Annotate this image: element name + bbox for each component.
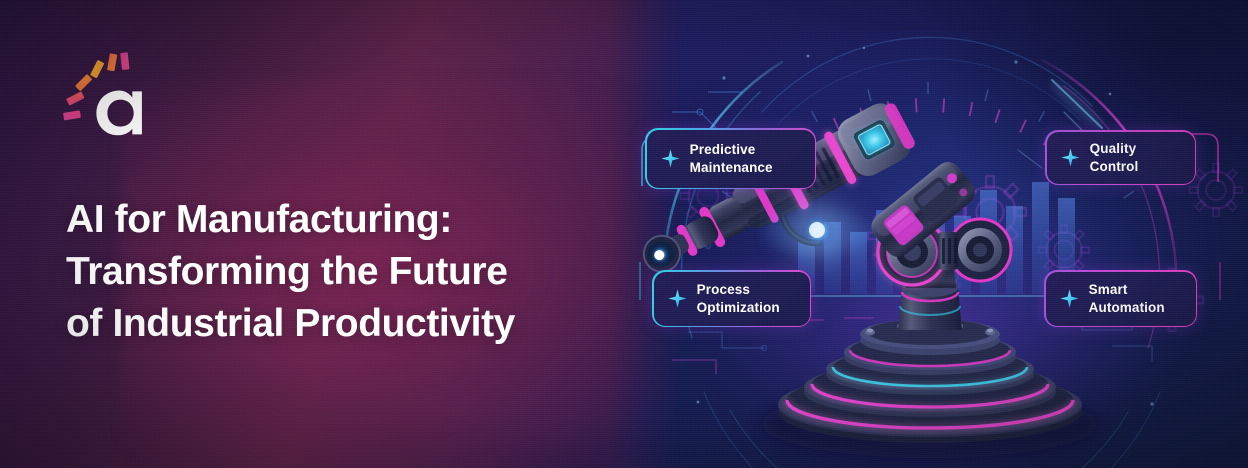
page-title: AI for Manufacturing: Transforming the F… xyxy=(66,194,646,350)
headline-line-2: Transforming the Future xyxy=(66,246,646,298)
badge-label: Smart Automation xyxy=(1089,281,1165,316)
sparkle-icon xyxy=(1060,289,1079,308)
badge-quality-control[interactable]: Quality Control xyxy=(1045,130,1196,185)
sparkle-icon xyxy=(661,149,680,168)
headline-line-1: AI for Manufacturing: xyxy=(66,194,646,246)
logo-letter-a xyxy=(96,91,142,136)
badge-label: Process Optimization xyxy=(697,281,780,316)
robot-illustration xyxy=(612,0,1248,468)
badge-label: Quality Control xyxy=(1090,140,1178,175)
lower-arm-knuckle xyxy=(938,232,958,270)
arc-top-ring xyxy=(762,37,1092,112)
arc-top-ring2 xyxy=(778,59,1080,124)
sparkle-icon xyxy=(668,289,687,308)
headline-line-3: of Industrial Productivity xyxy=(66,298,646,350)
badge-smart-automation[interactable]: Smart Automation xyxy=(1044,270,1197,327)
sparkle-icon xyxy=(1061,148,1080,167)
hero-banner: AI for Manufacturing: Transforming the F… xyxy=(0,0,1248,468)
brand-logo[interactable] xyxy=(60,62,152,146)
logo-sunburst-rays xyxy=(63,52,129,120)
badge-label: Predictive Maintenance xyxy=(690,141,773,176)
badge-process-optimization[interactable]: Process Optimization xyxy=(652,270,811,327)
badge-predictive-maintenance[interactable]: Predictive Maintenance xyxy=(645,128,816,189)
elbow-joint-lower xyxy=(949,219,1011,281)
